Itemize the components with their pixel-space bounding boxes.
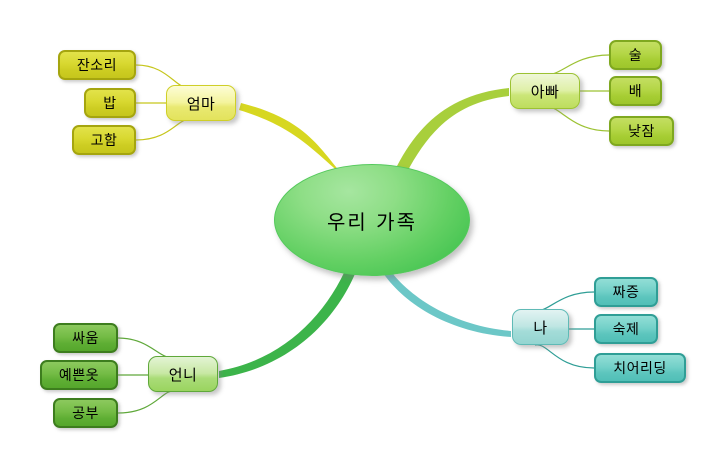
link-sister-study: [118, 391, 176, 413]
branch-node-sister[interactable]: 언니: [148, 356, 218, 392]
link-dad-alcohol: [545, 55, 609, 74]
leaf-node-pretty-clothes[interactable]: 예쁜옷: [40, 360, 118, 390]
leaf-node-cheerleading[interactable]: 치어리딩: [594, 353, 686, 383]
leaf-node-belly[interactable]: 배: [609, 76, 662, 106]
branch-node-me[interactable]: 나: [512, 309, 569, 345]
leaf-node-study[interactable]: 공부: [53, 398, 118, 428]
leaf-node-homework[interactable]: 숙제: [594, 314, 658, 344]
branch-node-mom[interactable]: 엄마: [166, 85, 236, 121]
link-dad-nap: [545, 107, 609, 131]
leaf-node-fight[interactable]: 싸움: [53, 323, 118, 353]
link-me-annoyance: [535, 292, 594, 310]
trunk-sister: [219, 264, 357, 378]
trunk-dad: [397, 88, 509, 174]
link-sister-fight: [118, 338, 176, 358]
leaf-node-annoyance[interactable]: 짜증: [594, 277, 658, 307]
leaf-node-nap[interactable]: 낮잠: [609, 116, 674, 146]
leaf-node-nagging[interactable]: 잔소리: [58, 50, 136, 80]
leaf-node-alcohol[interactable]: 술: [609, 40, 662, 70]
leaf-node-meal[interactable]: 밥: [84, 88, 136, 118]
trunk-mom: [239, 103, 347, 179]
link-mom-shout: [136, 119, 193, 140]
branch-node-dad[interactable]: 아빠: [510, 73, 580, 109]
trunk-me: [383, 269, 511, 337]
mind-map-canvas: 우리 가족 잔소리 밥 고함 엄마 아빠 술 배 낮잠 싸움 예쁜옷 공부 언니…: [0, 0, 725, 465]
central-node[interactable]: 우리 가족: [274, 164, 470, 276]
leaf-node-shout[interactable]: 고함: [72, 125, 136, 155]
link-me-cheerleading: [535, 345, 594, 368]
